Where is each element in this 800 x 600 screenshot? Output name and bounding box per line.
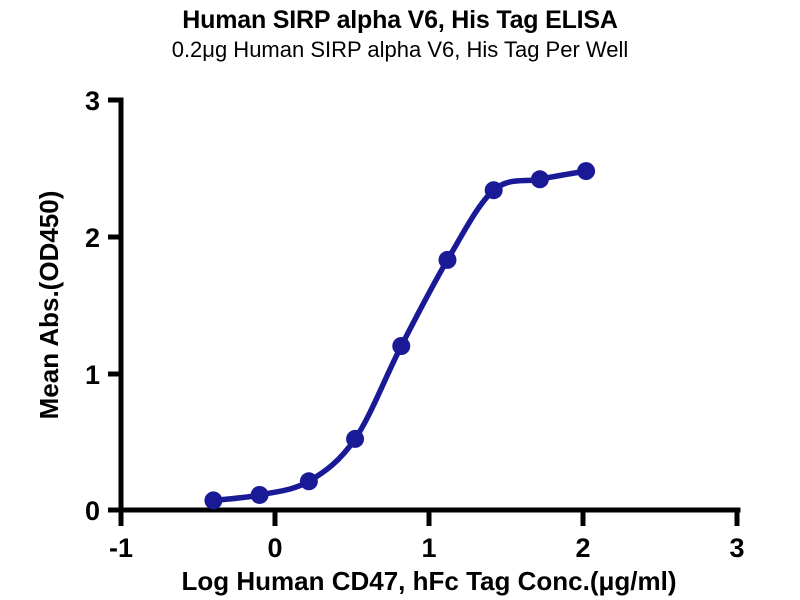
x-tick-label-2: 2 (575, 533, 590, 563)
data-point (392, 337, 410, 355)
y-tick-label-1: 1 (85, 360, 100, 390)
data-point (438, 251, 456, 269)
x-axis-title: Log Human CD47, hFc Tag Conc.(μg/ml) (182, 566, 677, 596)
y-axis-title: Mean Abs.(OD450) (34, 191, 64, 420)
plot-area: 3 2 1 0 -1 0 1 2 3 Log Human CD47, hFc T… (0, 0, 800, 600)
data-curve-0 (213, 171, 586, 500)
data-series-layer (204, 162, 595, 509)
chart-figure: Human SIRP alpha V6, His Tag ELISA 0.2μg… (0, 0, 800, 600)
data-point (577, 162, 595, 180)
x-tick-label-neg1: -1 (109, 533, 133, 563)
data-point (485, 181, 503, 199)
y-tick-label-3: 3 (85, 86, 100, 116)
data-point (300, 472, 318, 490)
x-tick-label-1: 1 (421, 533, 436, 563)
y-tick-label-2: 2 (85, 223, 100, 253)
data-point (531, 170, 549, 188)
data-point (204, 491, 222, 509)
x-tick-label-0: 0 (267, 533, 282, 563)
x-tick-label-3: 3 (729, 533, 744, 563)
y-tick-label-0: 0 (85, 496, 100, 526)
data-point (251, 486, 269, 504)
data-point (346, 430, 364, 448)
